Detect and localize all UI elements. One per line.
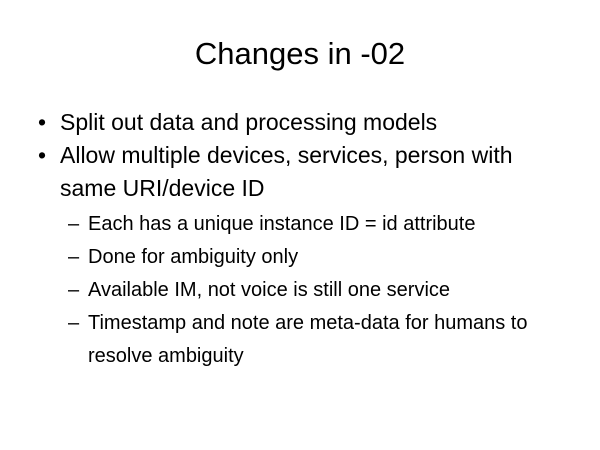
list-item-label: Split out data and processing models <box>60 106 538 139</box>
list-item-label: Available IM, not voice is still one ser… <box>88 274 545 307</box>
page-title: Changes in -02 <box>0 36 600 72</box>
list-item: – Done for ambiguity only <box>0 241 600 274</box>
list-item: – Timestamp and note are meta-data for h… <box>0 307 600 373</box>
sub-list: – Each has a unique instance ID = id att… <box>0 208 600 373</box>
list-item: – Available IM, not voice is still one s… <box>0 274 600 307</box>
bullet-marker-icon: • <box>38 106 58 139</box>
dash-marker-icon: – <box>68 274 90 307</box>
bullet-marker-icon: • <box>38 139 58 172</box>
dash-marker-icon: – <box>68 307 90 340</box>
list-item: – Each has a unique instance ID = id att… <box>0 208 600 241</box>
list-item-label: Timestamp and note are meta-data for hum… <box>88 307 545 373</box>
presentation-slide: Changes in -02 • Split out data and proc… <box>0 0 600 450</box>
dash-marker-icon: – <box>68 241 90 274</box>
dash-marker-icon: – <box>68 208 90 241</box>
list-item-label: Allow multiple devices, services, person… <box>60 139 538 205</box>
list-item-label: Each has a unique instance ID = id attri… <box>88 208 545 241</box>
slide-body-list: • Split out data and processing models •… <box>0 106 600 373</box>
list-item-label: Done for ambiguity only <box>88 241 545 274</box>
list-item: • Allow multiple devices, services, pers… <box>0 139 600 205</box>
list-item: • Split out data and processing models <box>0 106 600 139</box>
